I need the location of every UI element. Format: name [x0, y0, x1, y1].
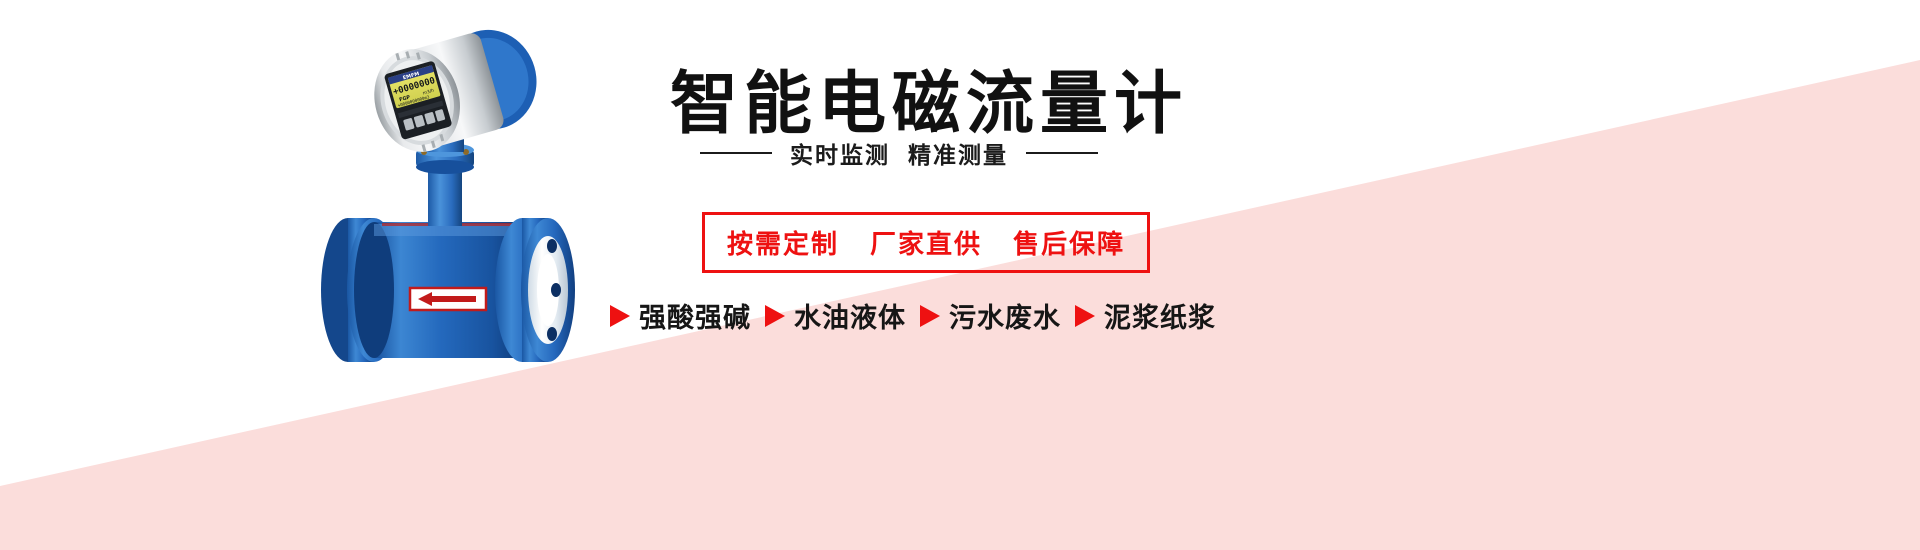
right-flange — [495, 218, 575, 362]
feature-item-3: 污水废水 — [920, 296, 1061, 335]
feature-label-1: 强酸强碱 — [639, 296, 751, 335]
triangle-right-icon — [1075, 305, 1095, 327]
transmitter-housing: EMFM +0000000 FGP m3/h +0000000000m3 — [362, 17, 548, 162]
subtitle-row: 实时监测 精准测量 — [700, 136, 1098, 170]
feature-item-1: 强酸强碱 — [610, 296, 751, 335]
badge-item-2: 厂家直供 — [870, 230, 982, 260]
badge-item-1: 按需定制 — [727, 230, 839, 260]
page-title: 智能电磁流量计 — [670, 48, 1188, 147]
flow-direction-arrow-label — [410, 288, 486, 310]
badge-spacer-1 — [843, 230, 865, 260]
triangle-right-icon — [765, 305, 785, 327]
service-badge-box: 按需定制 厂家直供 售后保障 — [702, 212, 1150, 273]
banner-text-block: 智能电磁流量计 实时监测 精准测量 按需定制 厂家直供 售后保障 强酸强碱 水油… — [600, 0, 1600, 550]
subtitle-left: 实时监测 — [790, 136, 890, 170]
rule-left-divider — [700, 152, 772, 154]
triangle-right-icon — [920, 305, 940, 327]
rule-right-divider — [1026, 152, 1098, 154]
feature-item-2: 水油液体 — [765, 296, 906, 335]
feature-list: 强酸强碱 水油液体 污水废水 泥浆纸浆 — [610, 296, 1216, 335]
feature-label-4: 泥浆纸浆 — [1104, 296, 1216, 335]
badge-spacer-2 — [987, 230, 1009, 260]
feature-label-3: 污水废水 — [949, 296, 1061, 335]
subtitle-right: 精准测量 — [908, 136, 1008, 170]
product-banner: EMFM +0000000 FGP m3/h +0000000000m3 智能电… — [0, 0, 1920, 550]
badge-item-3: 售后保障 — [1013, 230, 1125, 260]
feature-label-2: 水油液体 — [794, 296, 906, 335]
flowmeter-product-image: EMFM +0000000 FGP m3/h +0000000000m3 — [300, 0, 630, 430]
feature-item-4: 泥浆纸浆 — [1075, 296, 1216, 335]
triangle-right-icon — [610, 305, 630, 327]
